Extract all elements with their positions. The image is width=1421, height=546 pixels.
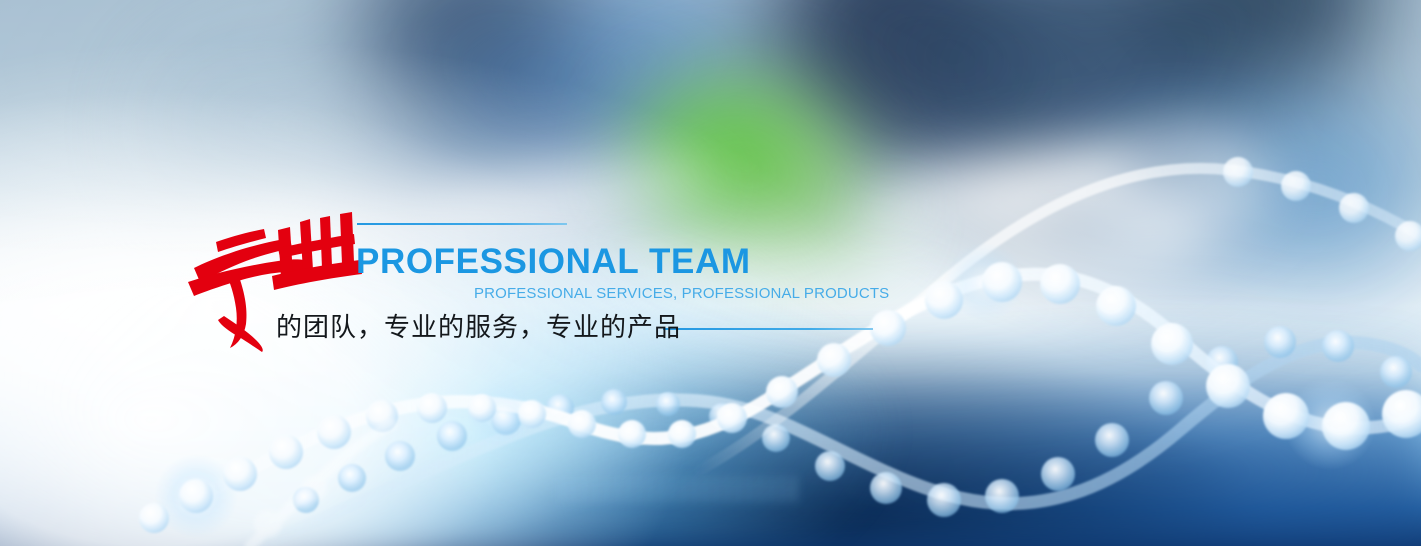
banner-copy-block: PROFESSIONAL TEAM PROFESSIONAL SERVICES,… [0, 0, 1421, 546]
subheadline-chinese: 的团队，专业的服务，专业的产品 [276, 307, 681, 344]
decorative-rule-bottom [663, 328, 873, 330]
hero-banner: PROFESSIONAL TEAM PROFESSIONAL SERVICES,… [0, 0, 1421, 546]
subheadline-english: PROFESSIONAL SERVICES, PROFESSIONAL PROD… [474, 285, 889, 302]
decorative-rule-top [357, 223, 567, 225]
headline-professional-team: PROFESSIONAL TEAM [356, 242, 751, 282]
